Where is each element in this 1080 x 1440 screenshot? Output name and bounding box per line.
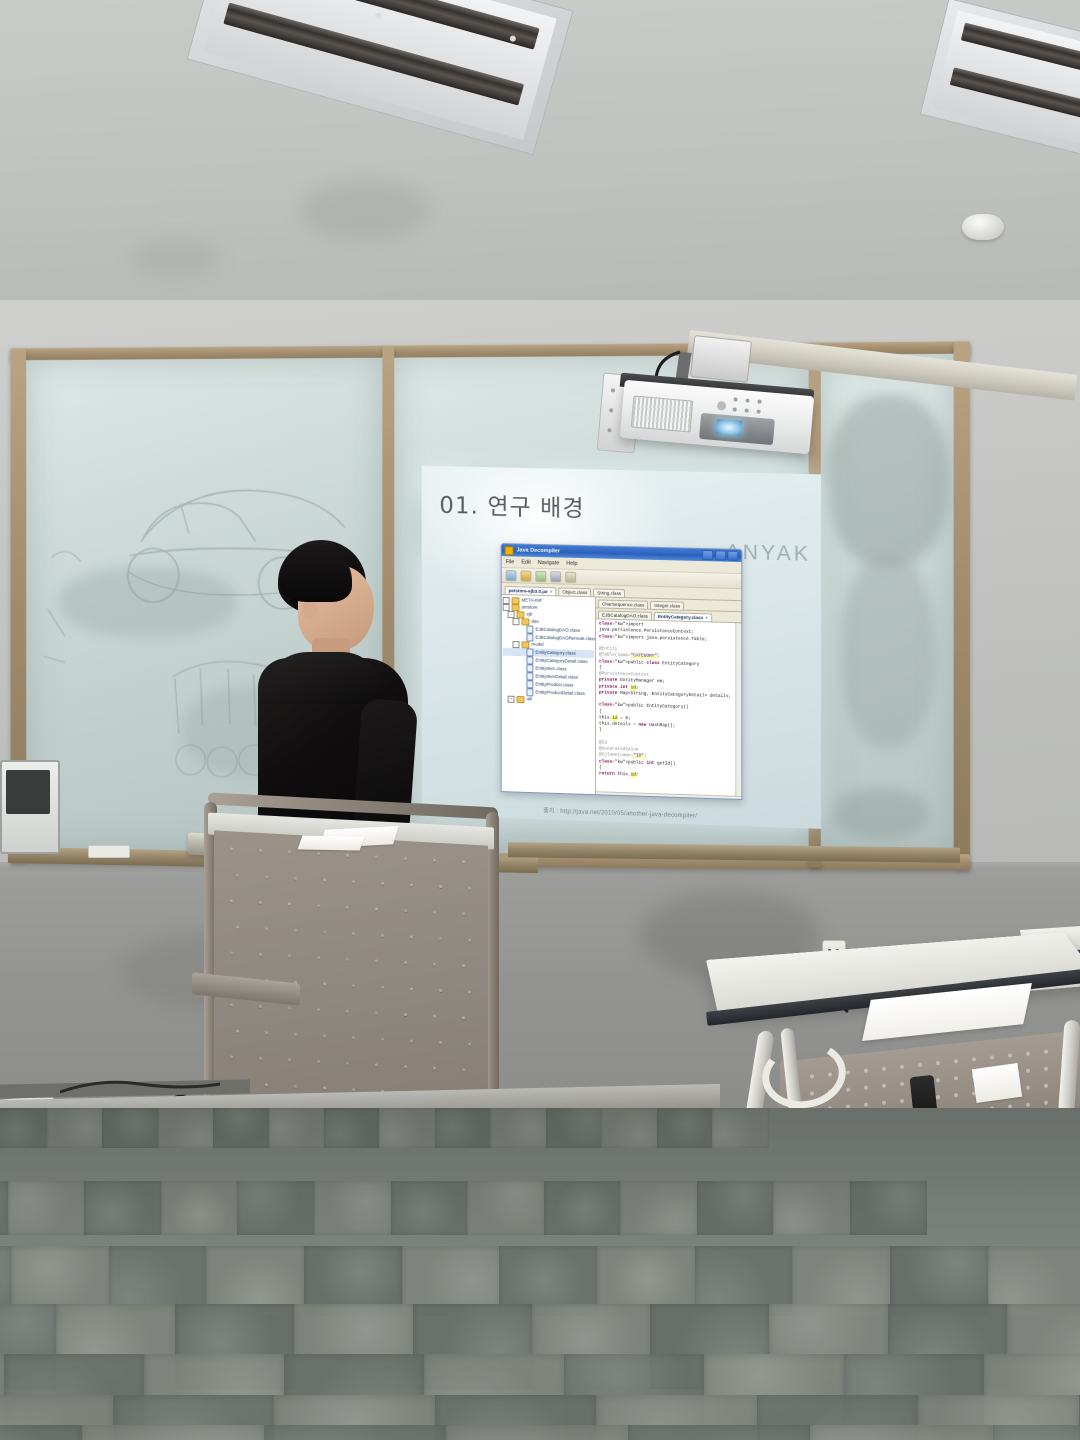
search-icon[interactable] xyxy=(565,571,576,582)
table-panel-perforation xyxy=(864,1103,868,1107)
presenter-ear xyxy=(302,600,317,619)
table-panel-perforation xyxy=(1026,1051,1030,1055)
tree-node-label: EJBCatalogDAO.class xyxy=(535,626,580,634)
lectern-perforation xyxy=(381,1038,384,1041)
java-decompiler-window: Java Decompiler File Edit Navigate Help xyxy=(501,543,743,800)
lectern-perforation xyxy=(375,907,378,910)
lectern-perforation xyxy=(352,932,355,935)
lectern-perforation xyxy=(346,1010,349,1013)
slide-source-citation: 출처 : http://java.net/2010/05/another-jav… xyxy=(543,805,697,819)
back-icon[interactable] xyxy=(535,570,546,581)
lectern-perforation xyxy=(294,1085,297,1088)
lectern-perforation xyxy=(375,1063,378,1066)
table-panel-perforation xyxy=(918,1063,922,1067)
table-panel-perforation xyxy=(954,1093,958,1097)
tree-expander-icon[interactable]: - xyxy=(508,611,515,618)
lectern-perforation xyxy=(404,1013,407,1016)
wall-device-screen xyxy=(6,770,50,814)
lectern-perforation xyxy=(352,1088,355,1091)
lectern-perforation xyxy=(468,887,471,890)
lectern-perforation xyxy=(236,874,239,877)
lectern-perforation xyxy=(259,1057,262,1060)
tab-jar-label: petstore-ejb3.0.jar xyxy=(509,588,548,594)
table-panel-perforation xyxy=(972,1057,976,1061)
tree-node-label: EntityItem.class xyxy=(535,665,566,673)
lectern-perforation xyxy=(381,934,384,937)
refresh-icon[interactable] xyxy=(520,570,531,581)
java-class-icon xyxy=(526,625,533,633)
java-class-icon xyxy=(526,648,533,656)
tree-expander-icon[interactable]: - xyxy=(503,604,510,611)
lectern-perforation xyxy=(317,956,320,959)
forward-icon[interactable] xyxy=(550,571,561,582)
tab-string-class[interactable]: String.class xyxy=(593,588,625,597)
tree-expander-icon[interactable]: - xyxy=(513,641,520,648)
lectern-perforation xyxy=(323,1086,326,1089)
table-panel-perforation xyxy=(1044,1084,1048,1088)
table-panel-perforation xyxy=(846,1087,850,1091)
lectern-perforation xyxy=(259,849,262,852)
lectern-perforation xyxy=(230,1055,233,1058)
floor xyxy=(0,1108,1080,1440)
lectern-perforation xyxy=(323,930,326,933)
lectern-perforation xyxy=(294,877,297,880)
lectern-perforation xyxy=(288,902,291,905)
lectern-perforation xyxy=(265,927,268,930)
lectern-perforation xyxy=(265,1083,268,1086)
table-panel-perforation xyxy=(990,1055,994,1059)
lectern-perforation xyxy=(323,1034,326,1037)
table-panel-perforation xyxy=(882,1084,886,1088)
lectern-perforation xyxy=(433,1067,436,1070)
lectern-perforation xyxy=(433,963,436,966)
lectern-perforation xyxy=(317,1060,320,1063)
board-eraser xyxy=(88,845,130,858)
folder-icon xyxy=(521,618,529,625)
jd-window-title: Java Decompiler xyxy=(517,547,560,554)
tree-node-label: util xyxy=(526,696,532,703)
lectern-perforation xyxy=(375,855,378,858)
table-panel-perforation xyxy=(882,1101,886,1105)
lectern-perforation xyxy=(433,1015,436,1018)
lectern-perforation xyxy=(323,982,326,985)
tab-close-icon[interactable]: × xyxy=(550,589,553,594)
tree-expander-icon[interactable]: - xyxy=(513,618,520,625)
lectern-perforation xyxy=(317,1008,320,1011)
menu-edit[interactable]: Edit xyxy=(521,559,530,565)
lectern-perforation xyxy=(352,1036,355,1039)
lectern-perforation xyxy=(288,1058,291,1061)
table-panel-perforation xyxy=(1026,1068,1030,1072)
tree-node-label: model xyxy=(531,642,543,649)
lectern-perforation xyxy=(230,847,233,850)
tab-charsequence-class[interactable]: CharSequence.class xyxy=(598,599,648,608)
tree-node-label: EntityCategoryDetail.class xyxy=(535,657,587,665)
table-panel-perforation xyxy=(954,1059,958,1063)
lectern-perforation xyxy=(433,911,436,914)
lectern-perforation xyxy=(439,937,442,940)
lectern-perforation xyxy=(410,987,413,990)
lectern-perforation xyxy=(230,899,233,902)
lectern-perforation xyxy=(381,986,384,989)
lectern-perforation xyxy=(346,854,349,857)
lectern-perforation xyxy=(468,939,471,942)
lectern-perforation xyxy=(259,953,262,956)
table-panel-perforation xyxy=(900,1065,904,1069)
lectern-perforation xyxy=(259,901,262,904)
lectern-perforation xyxy=(230,1003,233,1006)
lectern-perforation xyxy=(259,1005,262,1008)
wall-cable xyxy=(60,1074,220,1096)
lectern-perforation xyxy=(346,1062,349,1065)
table-panel-perforation xyxy=(864,1069,868,1073)
lectern-perforation xyxy=(317,904,320,907)
lectern-perforation xyxy=(265,1031,268,1034)
lectern-perforation xyxy=(410,935,413,938)
minimize-button[interactable] xyxy=(702,550,713,560)
java-class-icon xyxy=(526,688,533,696)
table-panel-perforation xyxy=(936,1095,940,1099)
jd-main-body: -META-INF-petstore-ejb-daoEJBCatalogDAO.… xyxy=(502,595,742,800)
lectern-perforation xyxy=(288,1006,291,1009)
projector-vent xyxy=(631,395,694,432)
tab-ejbcatalogdao-class[interactable]: EJBCatalogDAO.class xyxy=(598,610,652,619)
lectern-perforation xyxy=(288,850,291,853)
java-class-icon xyxy=(526,633,533,641)
tree-node-label: EntityCategory.class xyxy=(535,649,575,657)
table-panel-perforation xyxy=(1026,1102,1030,1106)
lectern-perforation xyxy=(236,1030,239,1033)
lectern-perforation xyxy=(346,906,349,909)
lectern-perforation xyxy=(404,909,407,912)
lectern-papers-2 xyxy=(298,835,365,850)
lectern-perforation xyxy=(462,912,465,915)
lectern-perforation xyxy=(462,860,465,863)
lectern-perforation xyxy=(410,1039,413,1042)
java-decompiler-icon xyxy=(505,546,514,555)
lectern-perforation xyxy=(375,959,378,962)
table-panel-perforation xyxy=(900,1082,904,1086)
wall-mounted-device[interactable] xyxy=(0,760,60,854)
lectern-perforation xyxy=(404,1065,407,1068)
smoke-detector xyxy=(962,214,1004,240)
lectern-perforation xyxy=(346,958,349,961)
lectern-perforation xyxy=(433,859,436,862)
lectern-perforation xyxy=(323,878,326,881)
tree-node-label: EntityProduct.class xyxy=(535,681,573,689)
jd-package-tree[interactable]: -META-INF-petstore-ejb-daoEJBCatalogDAO.… xyxy=(502,595,596,798)
lectern-perforation xyxy=(462,1016,465,1019)
menu-help[interactable]: Help xyxy=(566,560,577,566)
tab-entitycategory-class[interactable]: EntityCategory.class× xyxy=(654,612,712,622)
lectern-perforation xyxy=(265,875,268,878)
lectern-perforation xyxy=(381,882,384,885)
table-panel-perforation xyxy=(954,1076,958,1080)
projector-ceiling-bracket xyxy=(690,335,752,383)
menu-file[interactable]: File xyxy=(506,559,515,565)
table-panel-perforation xyxy=(936,1078,940,1082)
jd-code-lines: class="kw">import java.persistence.Persi… xyxy=(599,621,738,782)
lectern-perforation xyxy=(317,852,320,855)
lectern-perforation xyxy=(462,1068,465,1071)
tab-object-class[interactable]: Object.class xyxy=(558,587,591,596)
lectern-perforation xyxy=(288,954,291,957)
table-panel-perforation xyxy=(882,1067,886,1071)
tree-expander-icon[interactable]: + xyxy=(508,696,515,703)
lectern-perforation xyxy=(230,951,233,954)
table-panel-perforation xyxy=(864,1086,868,1090)
table-panel-perforation xyxy=(846,1070,850,1074)
tab-integer-class[interactable]: Integer.class xyxy=(650,601,684,610)
code-tab-close-icon[interactable]: × xyxy=(705,615,708,620)
table-panel-perforation xyxy=(900,1099,904,1103)
table-panel-perforation xyxy=(936,1061,940,1065)
lectern-perforation xyxy=(236,926,239,929)
lectern-perforation xyxy=(439,885,442,888)
classroom-scene: 01. 연구 배경 ANYAK Java Decompiler File Edi… xyxy=(0,0,1080,1440)
slide-title: 01. 연구 배경 xyxy=(439,486,584,523)
tree-node-label: EntityProductDetail.class xyxy=(535,689,585,697)
presenter-shoulders xyxy=(262,652,382,704)
jd-editor-area: CharSequence.class Integer.class EJBCata… xyxy=(596,597,741,800)
vertical-scrollbar[interactable] xyxy=(735,623,741,796)
lectern-perforation xyxy=(352,880,355,883)
whiteboard-panel-right xyxy=(821,354,954,856)
java-class-icon xyxy=(526,656,533,664)
lectern-perforation xyxy=(439,1041,442,1044)
java-class-icon xyxy=(526,680,533,688)
folder-icon xyxy=(521,641,529,648)
floor-shading xyxy=(0,1108,1080,1440)
projector-lens xyxy=(715,419,742,436)
open-file-icon[interactable] xyxy=(506,570,517,581)
lectern-perforation xyxy=(410,883,413,886)
table-panel-perforation xyxy=(1044,1050,1048,1054)
under-table-papers xyxy=(972,1063,1022,1103)
table-panel-perforation xyxy=(1044,1101,1048,1105)
jd-source-view[interactable]: class="kw">import java.persistence.Persi… xyxy=(596,619,741,796)
menu-navigate[interactable]: Navigate xyxy=(538,559,560,566)
table-panel-perforation xyxy=(1026,1085,1030,1089)
maximize-button[interactable] xyxy=(715,550,726,560)
lectern-perforation xyxy=(468,1043,471,1046)
lectern-perforation xyxy=(404,857,407,860)
lectern-perforation xyxy=(375,1011,378,1014)
lectern-perforation xyxy=(294,1033,297,1036)
java-class-icon xyxy=(526,672,533,680)
java-class-icon xyxy=(526,664,533,672)
lectern-perforation xyxy=(462,964,465,967)
tab-entitycategory-label: EntityCategory.class xyxy=(658,614,703,620)
table-panel-perforation xyxy=(1008,1053,1012,1057)
tree-node-label: EntityItemDetail.class xyxy=(535,673,578,681)
lectern-perforation xyxy=(468,991,471,994)
lectern-perforation xyxy=(404,961,407,964)
folder-icon xyxy=(517,696,525,703)
projected-slide: 01. 연구 배경 ANYAK Java Decompiler File Edi… xyxy=(422,466,821,829)
close-button[interactable] xyxy=(727,551,738,561)
lectern-perforation xyxy=(294,929,297,932)
jd-window-controls[interactable] xyxy=(702,550,738,561)
lectern-perforation xyxy=(439,989,442,992)
tab-jar-file[interactable]: petstore-ejb3.0.jar× xyxy=(505,586,557,595)
table-panel-perforation xyxy=(1044,1067,1048,1071)
lectern-perforation xyxy=(352,984,355,987)
